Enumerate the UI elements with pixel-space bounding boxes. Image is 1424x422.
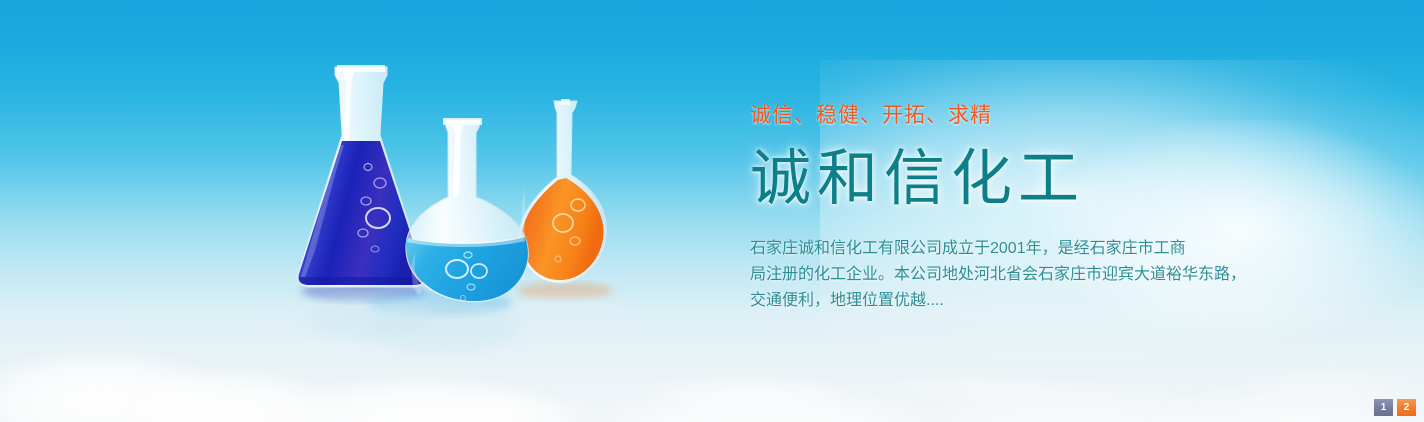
banner-description: 石家庄诚和信化工有限公司成立于2001年，是经石家庄市工商 局注册的化工企业。本… xyxy=(750,236,1350,314)
pagination-item-2[interactable]: 2 xyxy=(1397,399,1416,416)
description-line-2: 局注册的化工企业。本公司地处河北省会石家庄市迎宾大道裕华东路， xyxy=(750,262,1350,288)
description-line-3: 交通便利，地理位置优越.... xyxy=(750,288,1350,314)
banner-headline: 诚和信化工 xyxy=(750,146,1350,210)
banner-tagline: 诚信、稳健、开拓、求精 xyxy=(750,103,1350,128)
pagination-item-1[interactable]: 1 xyxy=(1374,399,1393,416)
pear-shaped-flask xyxy=(519,99,606,283)
round-bottom-flask xyxy=(406,118,528,302)
banner-pagination: 1 2 xyxy=(1374,399,1416,416)
hero-banner: 诚信、稳健、开拓、求精 诚和信化工 石家庄诚和信化工有限公司成立于2001年，是… xyxy=(0,0,1424,422)
banner-text-column: 诚信、稳健、开拓、求精 诚和信化工 石家庄诚和信化工有限公司成立于2001年，是… xyxy=(750,103,1350,314)
description-line-1: 石家庄诚和信化工有限公司成立于2001年，是经石家庄市工商 xyxy=(750,236,1350,262)
chemistry-flasks-illustration xyxy=(275,55,635,365)
